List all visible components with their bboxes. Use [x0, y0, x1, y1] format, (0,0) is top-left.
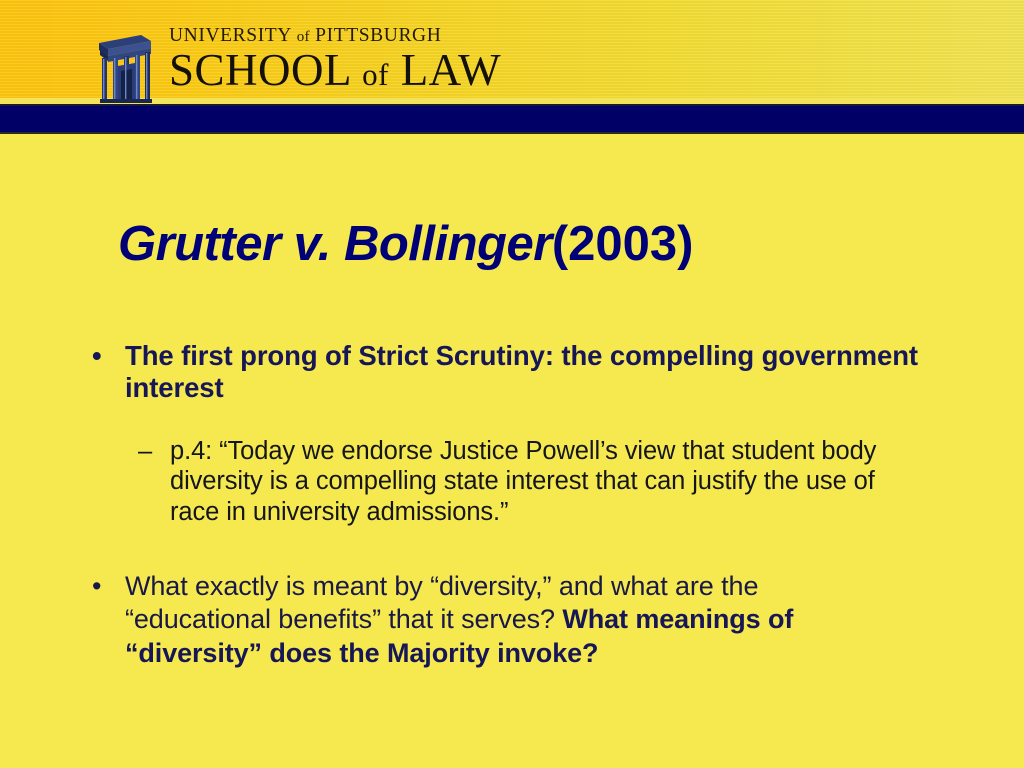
logo-school-line: SCHOOL of LAW	[169, 48, 501, 93]
bullet-marker-dot: •	[92, 340, 102, 372]
bullet-spacer-1	[0, 404, 1024, 436]
logo-university-line: UNIVERSITY of PITTSBURGH	[169, 26, 501, 46]
bullet-text-primary-1: The first prong of Strict Scrutiny: the …	[125, 340, 918, 403]
bullet-item-primary-1: • The first prong of Strict Scrutiny: th…	[0, 340, 1024, 404]
slide-title: Grutter v. Bollinger(2003)	[118, 219, 978, 271]
slide-title-case-name: Grutter v. Bollinger	[118, 217, 552, 271]
presentation-slide: UNIVERSITY of PITTSBURGH SCHOOL of LAW G…	[0, 0, 1024, 768]
logo-of-2: of	[362, 57, 389, 92]
logo-of-1: of	[297, 29, 310, 45]
bullet-spacer-2	[0, 528, 1024, 570]
bullet-item-primary-2: • What exactly is meant by “diversity,” …	[0, 570, 1024, 671]
bullet-text-sub-1: p.4: “Today we endorse Justice Powell’s …	[170, 437, 876, 526]
bullet-item-sub-1: – p.4: “Today we endorse Justice Powell’…	[0, 436, 1024, 528]
bullet-marker-dot-2: •	[92, 570, 101, 604]
header-navy-rule	[0, 104, 1024, 134]
school-of-law-logo: UNIVERSITY of PITTSBURGH SCHOOL of LAW	[95, 26, 501, 104]
slide-title-case-year: (2003)	[552, 217, 694, 271]
logo-pittsburgh-text: PITTSBURGH	[315, 25, 441, 46]
logo-school-text: SCHOOL	[169, 45, 350, 95]
logo-wordmark: UNIVERSITY of PITTSBURGH SCHOOL of LAW	[169, 26, 501, 93]
slide-body: • The first prong of Strict Scrutiny: th…	[0, 340, 1024, 671]
logo-law-text: LAW	[401, 45, 501, 95]
bullet-marker-dash: –	[138, 436, 152, 467]
pitt-cathedral-portico-icon	[95, 30, 153, 104]
logo-university-text: UNIVERSITY	[169, 25, 291, 46]
